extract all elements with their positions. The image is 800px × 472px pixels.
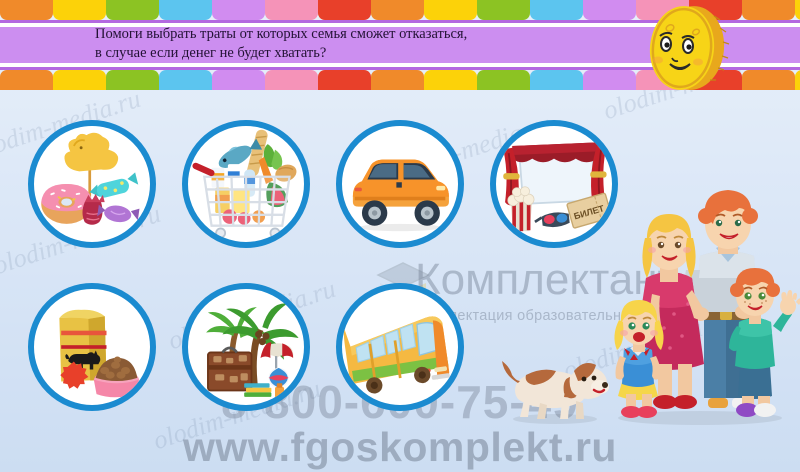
instruction-line-2: в случае если денег не будет хватать? [95,44,635,63]
color-block [0,0,53,20]
color-block [318,70,371,90]
color-block [0,70,53,90]
option-circle-sweets[interactable] [28,120,156,248]
palm-suitcase-umbrella-icon [188,289,304,405]
cinema-popcorn-ticket-icon: БИЛЕТ [496,126,612,242]
color-block [742,70,795,90]
orange-car-icon [342,126,458,242]
option-circle-car[interactable] [336,120,464,248]
option-circle-petfood[interactable] [28,283,156,411]
color-block [159,0,212,20]
dog-food-bag-bowl-icon [34,289,150,405]
color-block [106,70,159,90]
option-circle-groceries[interactable] [182,120,310,248]
color-block [371,0,424,20]
color-block [477,0,530,20]
boy-figure [729,268,800,417]
color-block [742,0,795,20]
coin-mascot-icon [630,2,742,94]
color-block [265,70,318,90]
color-block [212,70,265,90]
donut-candy-lollipop-icon [34,126,150,242]
option-circle-bus[interactable] [336,283,464,411]
shopping-cart-groceries-icon [188,126,304,242]
instruction-line-1: Помоги выбрать траты от которых семья см… [95,26,467,42]
color-block [265,0,318,20]
color-block [424,70,477,90]
color-block [424,0,477,20]
color-block [53,0,106,20]
color-block [795,0,800,20]
color-block [530,70,583,90]
color-block [212,0,265,20]
color-block [795,70,800,90]
color-block [106,0,159,20]
yellow-bus-icon [342,289,458,405]
color-block [318,0,371,20]
instruction-text: Помоги выбрать траты от которых семья см… [95,25,635,67]
option-circle-vacation[interactable] [182,283,310,411]
color-block [477,70,530,90]
option-circle-cinema[interactable]: БИЛЕТ [490,120,618,248]
color-block [583,0,636,20]
watermark-site: www.fgoskomplekt.ru [0,424,800,471]
color-block [583,70,636,90]
dog-illustration [500,345,610,425]
worksheet-page: olodim-media.ru olodim-media.ru olodim-m… [0,0,800,472]
color-block [371,70,424,90]
color-block [53,70,106,90]
color-block [159,70,212,90]
family-illustration [600,186,800,426]
color-block [530,0,583,20]
